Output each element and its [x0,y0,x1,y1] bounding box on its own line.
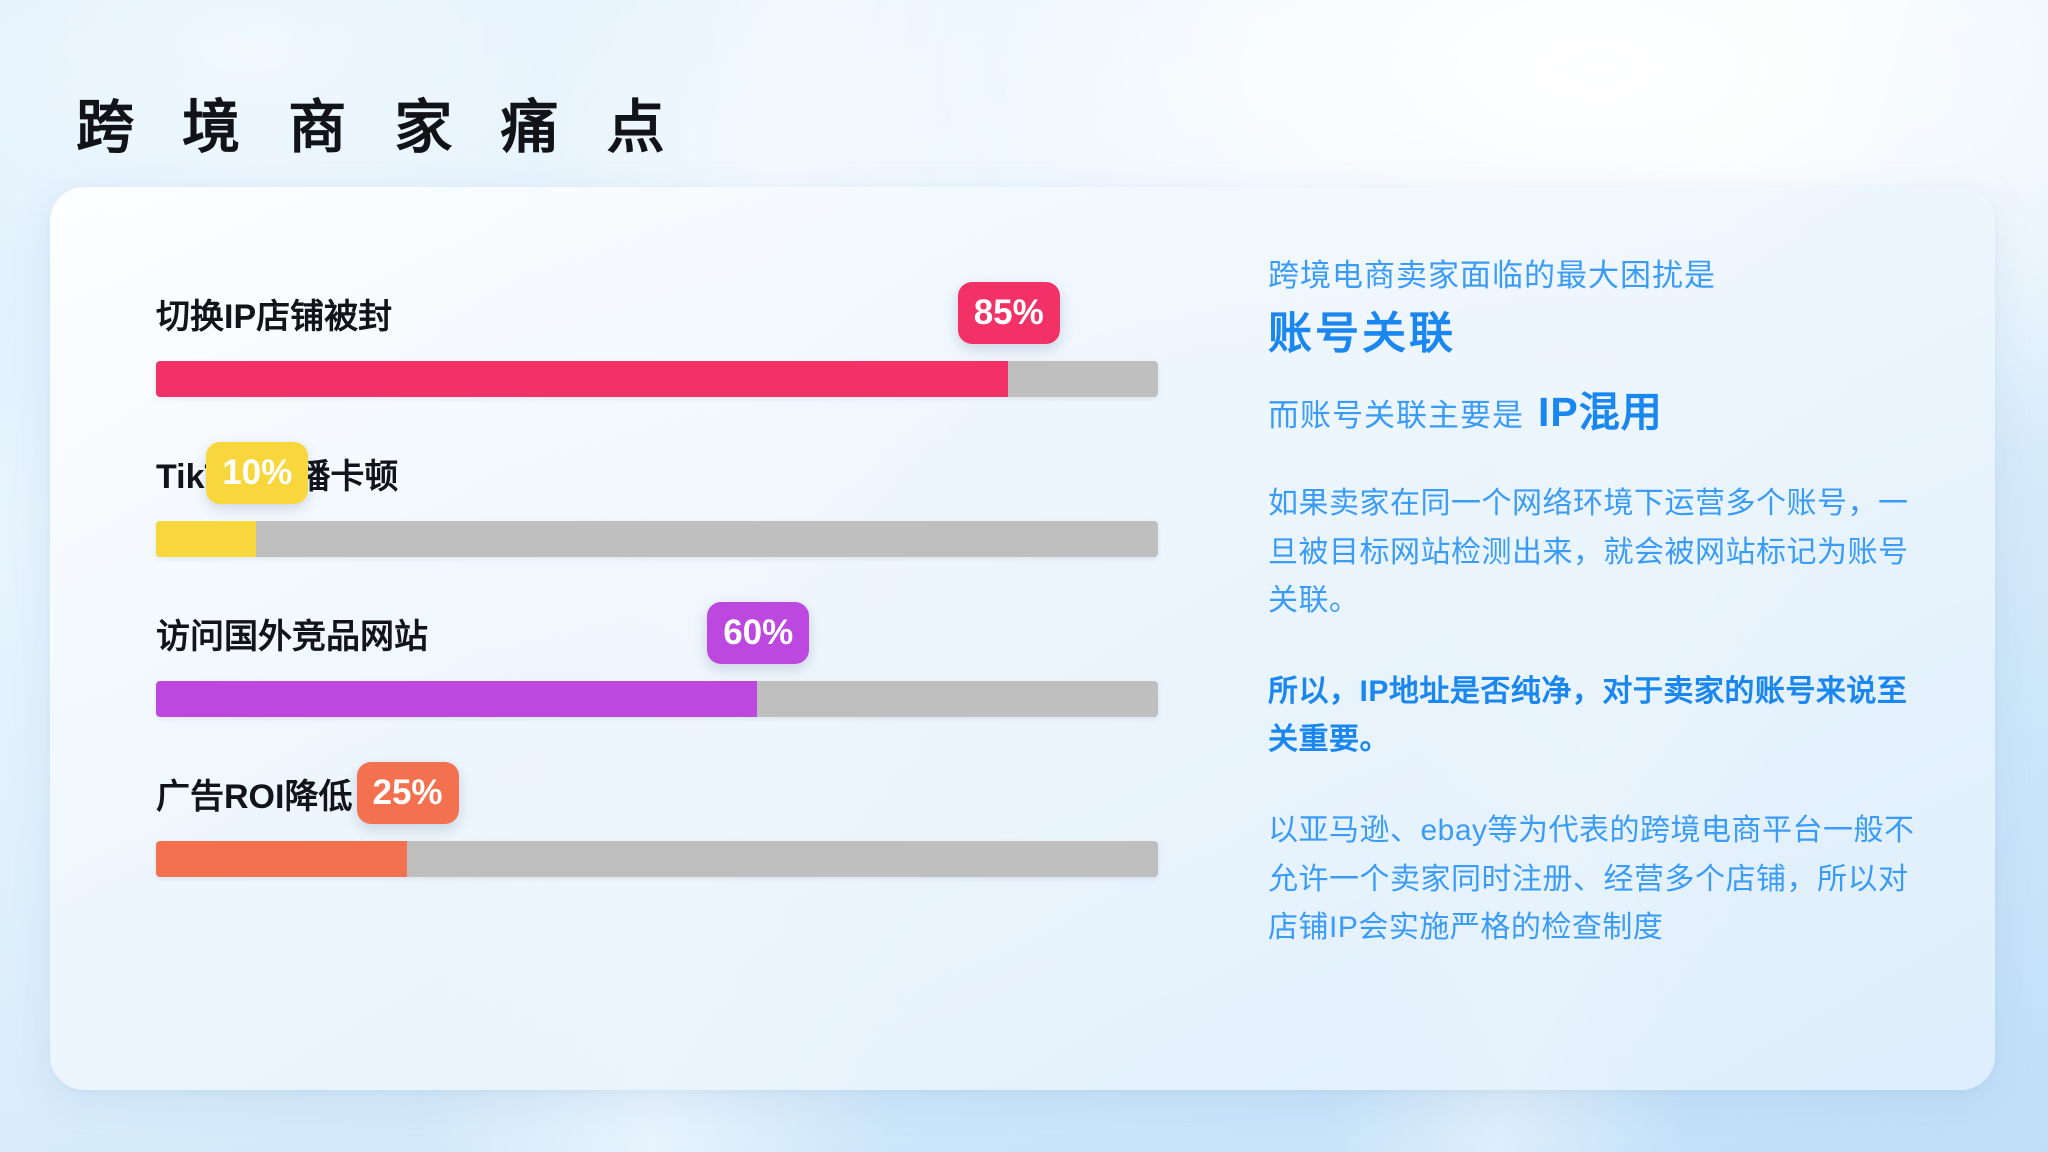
content-card: 切换IP店铺被封 85% TikTok直播卡顿 10% 访问国外竞品网站 60% [50,187,1995,1090]
bar-fill [156,841,407,877]
body-paragraph: 如果卖家在同一个网络环境下运营多个账号，一旦被目标网站检测出来，就会被网站标记为… [1268,480,1925,626]
body-paragraph-strong: 所以，IP地址是否纯净，对于卖家的账号来说至关重要。 [1268,668,1925,765]
bar-track [156,841,1158,877]
bar-header: 切换IP店铺被封 85% [156,265,1158,361]
bar-row: 访问国外竞品网站 60% [50,585,1212,745]
bar-track [156,361,1158,397]
bar-value-badge: 25% [357,762,459,824]
bar-row: TikTok直播卡顿 10% [50,425,1212,585]
page-title: 跨 境 商 家 痛 点 [76,99,681,157]
bar-header: 广告ROI降低 25% [156,745,1158,841]
bar-label: 广告ROI降低 [156,769,352,818]
bar-value-badge: 85% [958,282,1060,344]
bar-fill [156,521,256,557]
body-paragraph: 以亚马逊、ebay等为代表的跨境电商平台一般不允许一个卖家同时注册、经营多个店铺… [1268,807,1925,953]
lead-line: 跨境电商卖家面临的最大困扰是 [1268,255,1925,297]
bar-track [156,521,1158,557]
bar-value-badge: 60% [707,602,809,664]
bar-label: 切换IP店铺被封 [156,289,392,338]
lead-subline-prefix: 而账号关联主要是 [1268,390,1524,435]
explanation-panel: 跨境电商卖家面临的最大困扰是 账号关联 而账号关联主要是 IP混用 如果卖家在同… [1212,187,1995,1090]
bar-row: 切换IP店铺被封 85% [50,265,1212,425]
bar-row: 广告ROI降低 25% [50,745,1212,905]
bar-fill [156,681,757,717]
lead-subline: 而账号关联主要是 IP混用 [1268,378,1925,438]
lead-subline-emphasis: IP混用 [1538,378,1663,438]
bar-label: 访问国外竞品网站 [156,609,428,658]
bar-header: 访问国外竞品网站 60% [156,585,1158,681]
bar-fill [156,361,1008,397]
lead-highlight: 账号关联 [1268,305,1925,362]
bar-value-badge: 10% [206,442,308,504]
pain-point-bar-chart: 切换IP店铺被封 85% TikTok直播卡顿 10% 访问国外竞品网站 60% [50,187,1212,1090]
bar-track [156,681,1158,717]
bar-header: TikTok直播卡顿 10% [156,425,1158,521]
